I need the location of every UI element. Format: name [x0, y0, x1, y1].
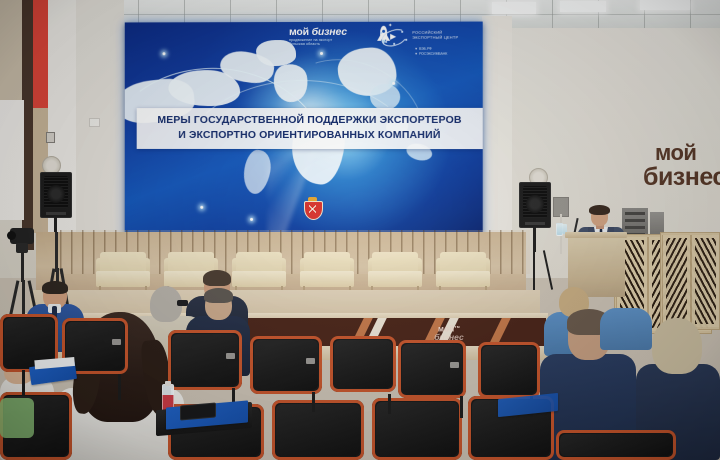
audience-chair[interactable]	[478, 342, 540, 398]
connection-node	[392, 82, 395, 85]
wall-brand-word-2: бизнес	[643, 165, 720, 190]
chair-leg	[312, 392, 315, 412]
tula-coat-of-arms-icon	[304, 197, 321, 219]
chair-leg	[22, 370, 25, 396]
chair-leg	[460, 396, 463, 418]
wall-panel-red	[33, 0, 49, 112]
moy-biznes-logo: мой бизнес продвижение на экспорт Тульск…	[289, 27, 375, 52]
connection-node	[320, 52, 323, 55]
wall-branding-moy-biznes: мой бизнес	[655, 140, 720, 190]
smartphone	[180, 402, 216, 420]
connection-node	[200, 206, 203, 209]
audience-chair-front[interactable]	[556, 430, 676, 460]
wall-panel-beige	[0, 0, 24, 108]
ceiling-light-panel	[492, 2, 536, 14]
connection-node	[162, 52, 165, 55]
audience-chair-front[interactable]	[372, 398, 462, 460]
wall-switch-plate	[89, 118, 100, 127]
audience-chair[interactable]	[398, 340, 466, 398]
audience-chair[interactable]	[250, 336, 322, 394]
audience-chair[interactable]	[168, 330, 242, 390]
wall-brand-word-1: мой	[655, 140, 720, 165]
audience-chair[interactable]	[330, 336, 396, 392]
connection-node	[250, 218, 253, 221]
wall-sensor-box	[46, 132, 55, 143]
chair-leg	[388, 394, 391, 414]
rec-sub-1: ВЭБ.РФ	[419, 47, 432, 51]
folding-screen-far-right	[660, 232, 720, 330]
wall-panel-white	[0, 100, 24, 220]
wall-panel-column	[76, 0, 124, 240]
presentation-title-line-1: МЕРЫ ГОСУДАРСТВЕННОЙ ПОДДЕРЖКИ ЭКСПОРТЕР…	[143, 113, 477, 128]
loudspeaker-left	[40, 172, 72, 218]
green-bag	[0, 398, 34, 438]
logo-tagline-2: Тульская область	[289, 42, 375, 47]
loudspeaker-right	[519, 182, 551, 228]
audience-chair-front[interactable]	[272, 400, 364, 460]
logo-word-biznes: бизнес	[312, 26, 347, 38]
ceiling-light-panel	[640, 0, 690, 10]
stage-banner-moy-biznes: мойтм бизнес	[418, 322, 480, 342]
chair-leg	[118, 374, 121, 400]
stage-banner-tm: тм	[455, 324, 461, 329]
speaker-stand-pole	[533, 226, 536, 252]
presentation-title-line-2: И ЭКСПОРТНО ОРИЕНТИРОВАННЫХ КОМПАНИЙ	[143, 128, 477, 143]
globe-arrow-icon	[379, 29, 409, 46]
logo-word-moy: мой	[289, 26, 309, 38]
ceiling-light-panel	[560, 1, 606, 12]
rec-sub-2: РОСЭКСИМБАНК	[419, 52, 447, 56]
led-presentation-screen: мой бизнес продвижение на экспорт Тульск…	[125, 22, 483, 241]
conference-hall-photo: мой бизнес продвижение на экспорт Тульск…	[0, 0, 720, 460]
russian-export-center-logo: РОССИЙСКИЙ ЭКСПОРТНЫЙ ЦЕНТР ▾ВЭБ.РФ ▾РОС…	[379, 28, 467, 62]
audience-member-blue-shirt-standing	[600, 290, 652, 350]
presentation-title-plate: МЕРЫ ГОСУДАРСТВЕННОЙ ПОДДЕРЖКИ ЭКСПОРТЕР…	[137, 108, 483, 149]
wall-panel-right-column	[482, 16, 512, 246]
rec-line-2: ЭКСПОРТНЫЙ ЦЕНТР	[412, 35, 458, 40]
